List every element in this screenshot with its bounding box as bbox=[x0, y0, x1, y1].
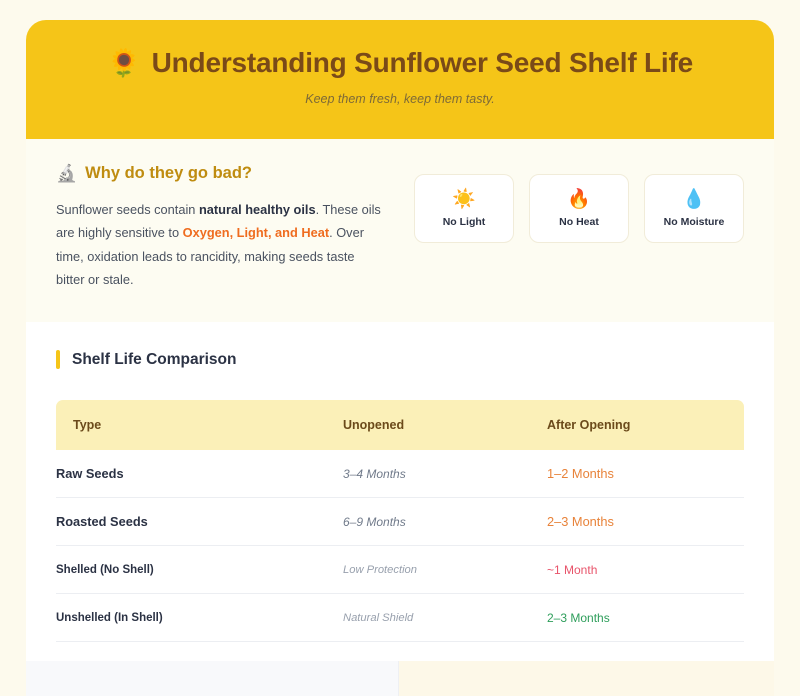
why-text-part1: Sunflower seeds contain bbox=[56, 202, 199, 217]
shelf-life-section: Shelf Life Comparison Type Unopened Afte… bbox=[26, 322, 774, 661]
cell-after-opening: 1–2 Months bbox=[547, 450, 744, 498]
section-title: Shelf Life Comparison bbox=[72, 351, 237, 369]
cell-unopened: 6–9 Months bbox=[343, 498, 547, 546]
shelf-life-heading-row: Shelf Life Comparison bbox=[56, 350, 744, 369]
why-text-highlight: Oxygen, Light, and Heat bbox=[183, 225, 329, 240]
cell-unopened: 3–4 Months bbox=[343, 450, 547, 498]
cell-type: Shelled (No Shell) bbox=[56, 546, 343, 594]
column-header-unopened[interactable]: Unopened bbox=[343, 400, 547, 450]
page-root: 🌻 Understanding Sunflower Seed Shelf Lif… bbox=[0, 0, 800, 696]
condition-card-label: No Moisture bbox=[664, 216, 725, 228]
bottom-split bbox=[26, 661, 774, 696]
cell-type: Roasted Seeds bbox=[56, 498, 343, 546]
bottom-panels bbox=[26, 661, 774, 696]
cell-after-opening: ~1 Month bbox=[547, 546, 744, 594]
page-subtitle: Keep them fresh, keep them tasty. bbox=[26, 92, 774, 106]
table-header: Type Unopened After Opening bbox=[56, 400, 744, 450]
table-row: Shelled (No Shell) Low Protection ~1 Mon… bbox=[56, 546, 744, 594]
table-body: Raw Seeds 3–4 Months 1–2 Months Roasted … bbox=[56, 450, 744, 642]
condition-cards: ☀️ No Light 🔥 No Heat 💧 No Moisture bbox=[414, 164, 744, 243]
column-header-after-opening[interactable]: After Opening bbox=[547, 400, 744, 450]
condition-card-no-heat[interactable]: 🔥 No Heat bbox=[529, 174, 629, 243]
accent-bar bbox=[56, 350, 60, 369]
page-title: Understanding Sunflower Seed Shelf Life bbox=[152, 47, 693, 79]
why-body-text: Sunflower seeds contain natural healthy … bbox=[56, 198, 386, 291]
cell-unopened: Natural Shield bbox=[343, 594, 547, 642]
condition-card-label: No Light bbox=[443, 216, 486, 228]
cell-after-opening: 2–3 Months bbox=[547, 594, 744, 642]
why-heading: Why do they go bad? bbox=[85, 164, 252, 183]
condition-card-no-light[interactable]: ☀️ No Light bbox=[414, 174, 514, 243]
sun-icon: ☀️ bbox=[452, 190, 476, 209]
why-text-column: 🔬 Why do they go bad? Sunflower seeds co… bbox=[56, 164, 386, 291]
sunflower-icon: 🌻 bbox=[107, 50, 141, 77]
column-header-type[interactable]: Type bbox=[56, 400, 343, 450]
cell-unopened: Low Protection bbox=[343, 546, 547, 594]
cell-type: Raw Seeds bbox=[56, 450, 343, 498]
bottom-right-panel bbox=[399, 661, 774, 696]
droplet-icon: 💧 bbox=[682, 190, 706, 209]
cell-after-opening: 2–3 Months bbox=[547, 498, 744, 546]
condition-card-label: No Heat bbox=[559, 216, 599, 228]
table-header-row: Type Unopened After Opening bbox=[56, 400, 744, 450]
bottom-left-panel bbox=[26, 661, 399, 696]
cell-type: Unshelled (In Shell) bbox=[56, 594, 343, 642]
shelf-life-table: Type Unopened After Opening Raw Seeds 3–… bbox=[56, 400, 744, 642]
fire-icon: 🔥 bbox=[567, 190, 591, 209]
table-row: Unshelled (In Shell) Natural Shield 2–3 … bbox=[56, 594, 744, 642]
why-text-bold: natural healthy oils bbox=[199, 202, 316, 217]
why-section: 🔬 Why do they go bad? Sunflower seeds co… bbox=[26, 139, 774, 322]
table-row: Roasted Seeds 6–9 Months 2–3 Months bbox=[56, 498, 744, 546]
microscope-icon: 🔬 bbox=[56, 165, 77, 182]
condition-card-no-moisture[interactable]: 💧 No Moisture bbox=[644, 174, 744, 243]
header-title-row: 🌻 Understanding Sunflower Seed Shelf Lif… bbox=[26, 47, 774, 79]
main-card: 🌻 Understanding Sunflower Seed Shelf Lif… bbox=[26, 20, 774, 696]
table-row: Raw Seeds 3–4 Months 1–2 Months bbox=[56, 450, 744, 498]
why-heading-row: 🔬 Why do they go bad? bbox=[56, 164, 386, 183]
page-header: 🌻 Understanding Sunflower Seed Shelf Lif… bbox=[26, 20, 774, 139]
